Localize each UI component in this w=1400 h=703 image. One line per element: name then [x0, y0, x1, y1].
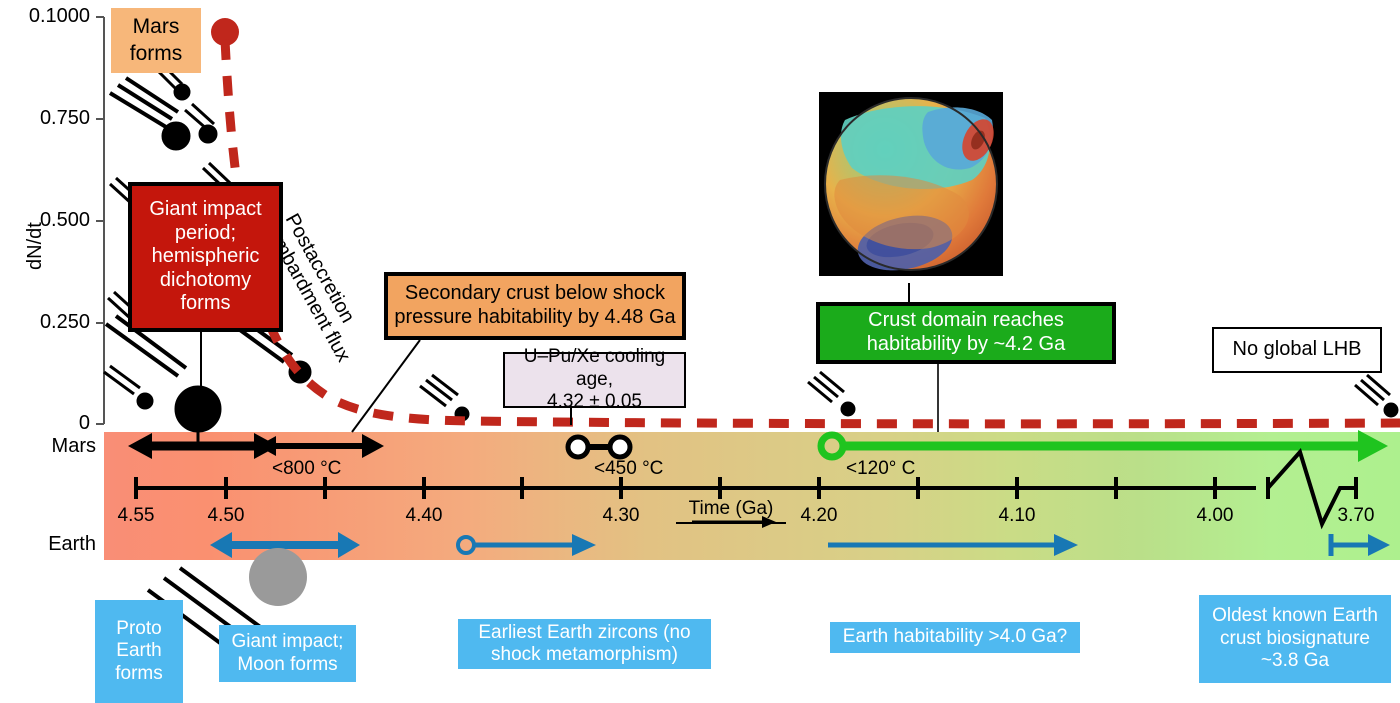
y-tick-label: 0: [0, 412, 90, 435]
upuxe-line: U–Pu/Xe cooling age,: [505, 346, 684, 391]
proto-earth-forms-box: Proto Earth forms: [95, 600, 183, 703]
x-tick-label: 4.30: [571, 505, 671, 527]
biosignature-line: crust biosignature: [1220, 628, 1370, 650]
figure-overlay: [0, 0, 1400, 703]
giant-impact-period-box: Giant impact period; hemispheric dichoto…: [128, 182, 283, 332]
giant-impact-line: Giant impact: [149, 198, 261, 222]
x-tick-label: 4.40: [374, 505, 474, 527]
x-tick-label: 4.55: [86, 505, 186, 527]
impactor-icon: [1355, 375, 1398, 417]
earliest-zircons-line: Earliest Earth zircons (no: [478, 622, 690, 644]
secondary-crust-line: Secondary crust below shock: [405, 282, 665, 306]
earth-track: [210, 532, 1390, 558]
giant-impact-moon-forms-box: Giant impact; Moon forms: [219, 625, 356, 682]
biosignature-line: ~3.8 Ga: [1261, 650, 1329, 672]
upuxe-cooling-age-box: U–Pu/Xe cooling age, 4.32 ± 0.05: [503, 352, 686, 408]
proto-earth-line: Earth: [116, 640, 161, 662]
secondary-crust-line: pressure habitability by 4.48 Ga: [394, 306, 675, 330]
giant-impact-line: forms: [181, 292, 231, 316]
crust-domain-line: Crust domain reaches: [868, 309, 1064, 333]
y-tick-label: 0.750: [0, 107, 90, 130]
mars-forms-box: Mars forms: [111, 8, 201, 73]
x-tick-label: 3.70: [1306, 505, 1400, 527]
x-axis-label: Time (Ga): [676, 498, 786, 524]
earliest-zircons-line: shock metamorphism): [491, 644, 678, 666]
y-tick-label: 0.500: [0, 209, 90, 232]
giant-impact-moon-line: Moon forms: [237, 654, 337, 676]
no-global-lhb-label: No global LHB: [1233, 338, 1362, 362]
crust-domain-habitability-box: Crust domain reaches habitability by ~4.…: [816, 302, 1116, 364]
giant-impact-line: hemispheric: [152, 245, 260, 269]
y-axis: [96, 17, 104, 424]
x-tick-label: 4.00: [1165, 505, 1265, 527]
impactor-icon: [106, 316, 221, 446]
row-label-mars: Mars: [0, 435, 96, 458]
impactor-icon: [808, 372, 855, 416]
x-tick-label: 4.50: [176, 505, 276, 527]
giant-impact-moon-line: Giant impact;: [232, 631, 344, 653]
giant-impact-line: dichotomy: [160, 269, 251, 293]
impactor-icon: [104, 366, 153, 409]
proto-earth-line: Proto: [116, 618, 161, 640]
x-tick-label: 4.10: [967, 505, 1067, 527]
biosignature-line: Oldest known Earth: [1212, 605, 1378, 627]
figure-root: dN/dt 0.1000 0.750 0.500 0.250 0 Mars Ea…: [0, 0, 1400, 703]
giant-impact-line: period;: [175, 222, 236, 246]
mars-forms-label: Mars forms: [111, 14, 201, 67]
secondary-crust-box: Secondary crust below shock pressure hab…: [384, 272, 686, 340]
upuxe-line: 4.32 ± 0.05: [547, 391, 642, 413]
y-tick-label: 0.250: [0, 311, 90, 334]
y-tick-label: 0.1000: [0, 5, 90, 28]
impactor-icon: [420, 375, 469, 421]
mars-temp-800-label: <800 °C: [272, 458, 341, 480]
earliest-zircons-box: Earliest Earth zircons (no shock metamor…: [458, 619, 711, 669]
earth-habitability-label: Earth habitability >4.0 Ga?: [843, 626, 1067, 648]
row-label-earth: Earth: [0, 533, 96, 556]
mars-globe-image: [819, 92, 1003, 278]
mars-temp-450-label: <450 °C: [594, 458, 663, 480]
earth-habitability-box: Earth habitability >4.0 Ga?: [830, 622, 1080, 653]
mars-temp-120-label: <120° C: [846, 458, 915, 480]
oldest-biosignature-box: Oldest known Earth crust biosignature ~3…: [1199, 595, 1391, 683]
no-global-lhb-box: No global LHB: [1212, 327, 1382, 373]
proto-earth-line: forms: [115, 663, 163, 685]
crust-domain-line: habitability by ~4.2 Ga: [867, 333, 1065, 357]
